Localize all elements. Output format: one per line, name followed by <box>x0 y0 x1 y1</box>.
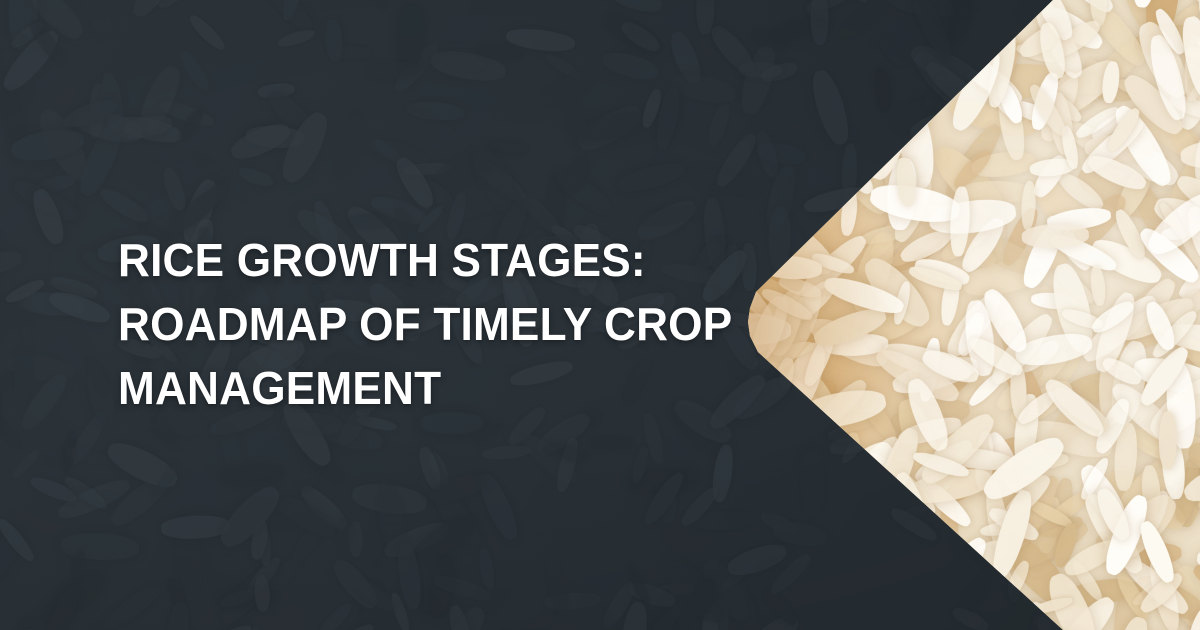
article-hero-banner: Rice Growth Stages: Roadmap of Timely Cr… <box>0 0 1200 630</box>
page-title-line-3: Management <box>118 356 694 420</box>
page-title-line-1: Rice Growth Stages: <box>118 228 694 292</box>
page-title: Rice Growth Stages: Roadmap of Timely Cr… <box>118 228 718 420</box>
page-title-line-2: Roadmap of Timely Crop <box>118 292 694 356</box>
